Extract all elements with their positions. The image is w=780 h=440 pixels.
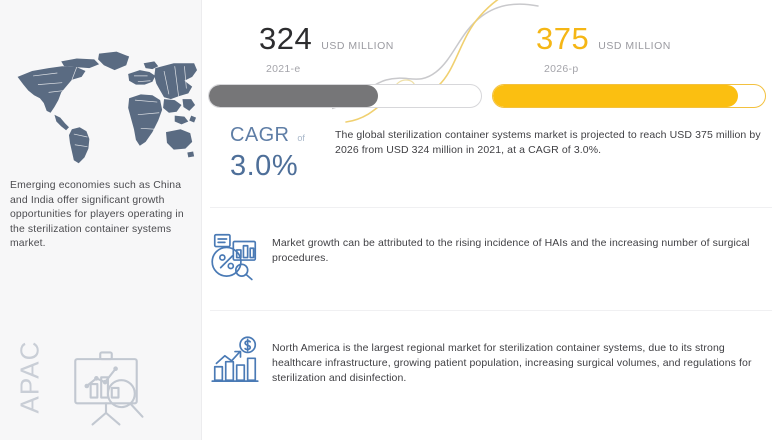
metric-heading: 375 USD MILLION <box>490 22 773 56</box>
metric-progress-fill <box>493 85 738 107</box>
main-content-panel: 324 USD MILLION 2021-e 375 USD MILLION 2… <box>202 0 780 440</box>
bar-chart-growth-dollar-icon <box>208 333 262 387</box>
metric-value: 375 <box>536 22 589 56</box>
metric-value: 324 <box>259 22 312 56</box>
cagr-label: CAGR <box>230 124 289 147</box>
metric-unit: USD MILLION <box>321 40 394 52</box>
left-sidebar-panel: Emerging economies such as China and Ind… <box>0 0 202 440</box>
infographic-root: Emerging economies such as China and Ind… <box>0 0 780 440</box>
metric-year: 2026-p <box>490 63 773 75</box>
metric-unit: USD MILLION <box>598 40 671 52</box>
metric-progress-fill <box>209 85 378 107</box>
info-row-north-america: North America is the largest regional ma… <box>208 333 774 387</box>
metric-block-2026: 375 USD MILLION 2026-p <box>490 22 773 75</box>
info-row-text: North America is the largest regional ma… <box>272 333 774 386</box>
apac-region-label: APAC <box>15 318 46 414</box>
info-row-text: Market growth can be attributed to the r… <box>272 228 774 266</box>
market-report-percent-icon <box>208 228 262 282</box>
presentation-chart-magnifier-icon <box>58 338 154 434</box>
metric-progress-bar <box>492 84 766 108</box>
metric-progress-bar <box>208 84 482 108</box>
metric-block-2021: 324 USD MILLION 2021-e <box>206 22 489 75</box>
metric-heading: 324 USD MILLION <box>206 22 489 56</box>
world-map-icon <box>4 34 198 176</box>
section-divider-1 <box>210 207 772 208</box>
cagr-of-label: of <box>297 133 305 143</box>
section-divider-2 <box>210 310 772 311</box>
info-row-market-growth: Market growth can be attributed to the r… <box>208 228 774 282</box>
market-summary-text: The global sterilization container syste… <box>335 128 777 158</box>
metric-year: 2021-e <box>206 63 489 75</box>
left-panel-body-text: Emerging economies such as China and Ind… <box>10 179 192 252</box>
